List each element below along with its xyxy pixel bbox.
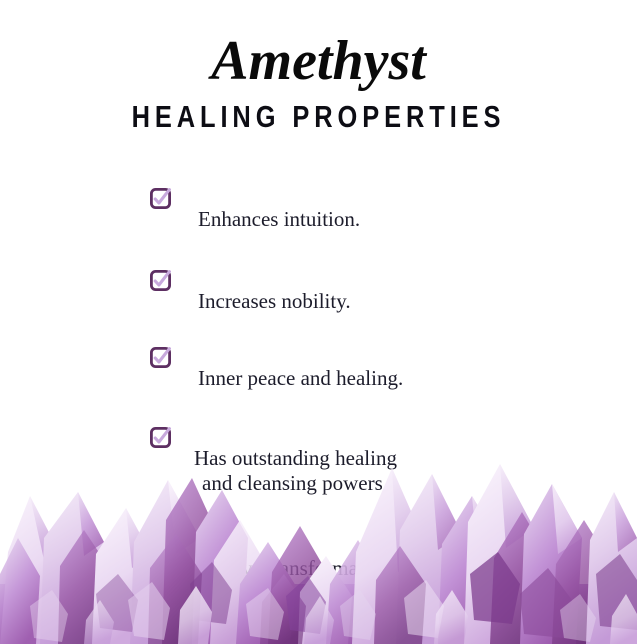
- list-item-label: Has outstanding healing and cleansing po…: [194, 421, 397, 521]
- list-item-line2: and cleansing powers.: [194, 471, 397, 496]
- checkbox-checked-icon: [150, 427, 171, 448]
- header: Amethyst HEALING PROPERTIES: [0, 30, 637, 136]
- list-item: Inner peace and healing.: [150, 341, 550, 391]
- list-item-line1: Positive transformation.: [194, 556, 396, 580]
- list-item: Increases nobility.: [150, 264, 550, 314]
- list-item-line1: Increases nobility.: [198, 289, 351, 313]
- page-title: Amethyst: [0, 30, 637, 92]
- list-item-line1: Inner peace and healing.: [198, 366, 403, 390]
- checkbox-checked-icon: [150, 537, 171, 558]
- page-subtitle: HEALING PROPERTIES: [57, 98, 579, 136]
- checkbox-checked-icon: [150, 347, 171, 368]
- list-item-line1: Has outstanding healing: [194, 446, 397, 470]
- list-item-label: Enhances intuition.: [198, 182, 360, 232]
- amethyst-healing-properties-graphic: Amethyst HEALING PROPERTIES Enhances int…: [0, 0, 637, 644]
- checkbox-checked-icon: [150, 188, 171, 209]
- list-item-label: Increases nobility.: [198, 264, 351, 314]
- list-item-line1: Enhances intuition.: [198, 207, 360, 231]
- list-item: Has outstanding healing and cleansing po…: [150, 421, 550, 521]
- healing-properties-list: Enhances intuition. Increases nobility.: [150, 182, 550, 581]
- list-item: Enhances intuition.: [150, 182, 550, 232]
- list-item-label: Inner peace and healing.: [198, 341, 403, 391]
- list-item: Positive transformation.: [150, 531, 550, 581]
- checkbox-checked-icon: [150, 270, 171, 291]
- list-item-label: Positive transformation.: [194, 531, 396, 581]
